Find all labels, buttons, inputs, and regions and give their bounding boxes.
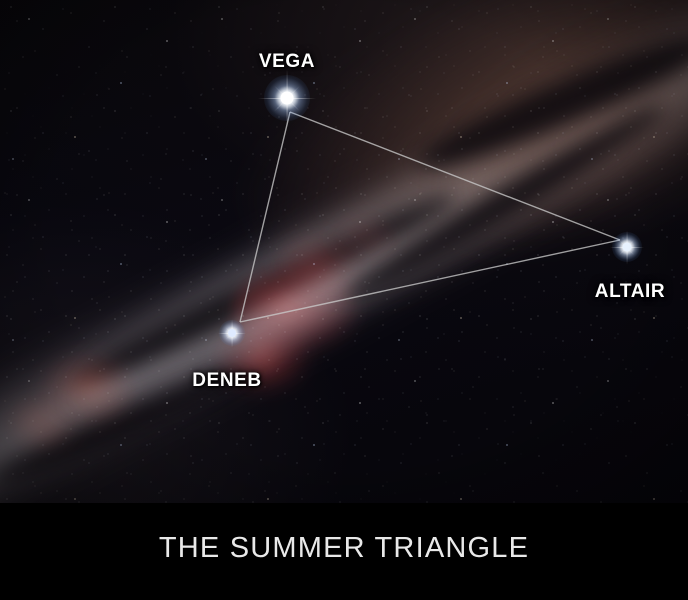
emission-nebula-center — [330, 214, 400, 262]
caption-bar: THE SUMMER TRIANGLE — [0, 503, 688, 600]
star-label-vega: VEGA — [259, 51, 315, 73]
summer-triangle-figure: VEGA ALTAIR DENEB THE SUMMER TRIANGLE — [0, 0, 688, 600]
star-label-altair: ALTAIR — [595, 281, 665, 303]
night-sky-image: VEGA ALTAIR DENEB — [0, 0, 688, 503]
emission-nebula-lower-left-2 — [6, 396, 76, 450]
star-label-deneb: DENEB — [192, 370, 262, 392]
figure-caption: THE SUMMER TRIANGLE — [159, 532, 529, 565]
